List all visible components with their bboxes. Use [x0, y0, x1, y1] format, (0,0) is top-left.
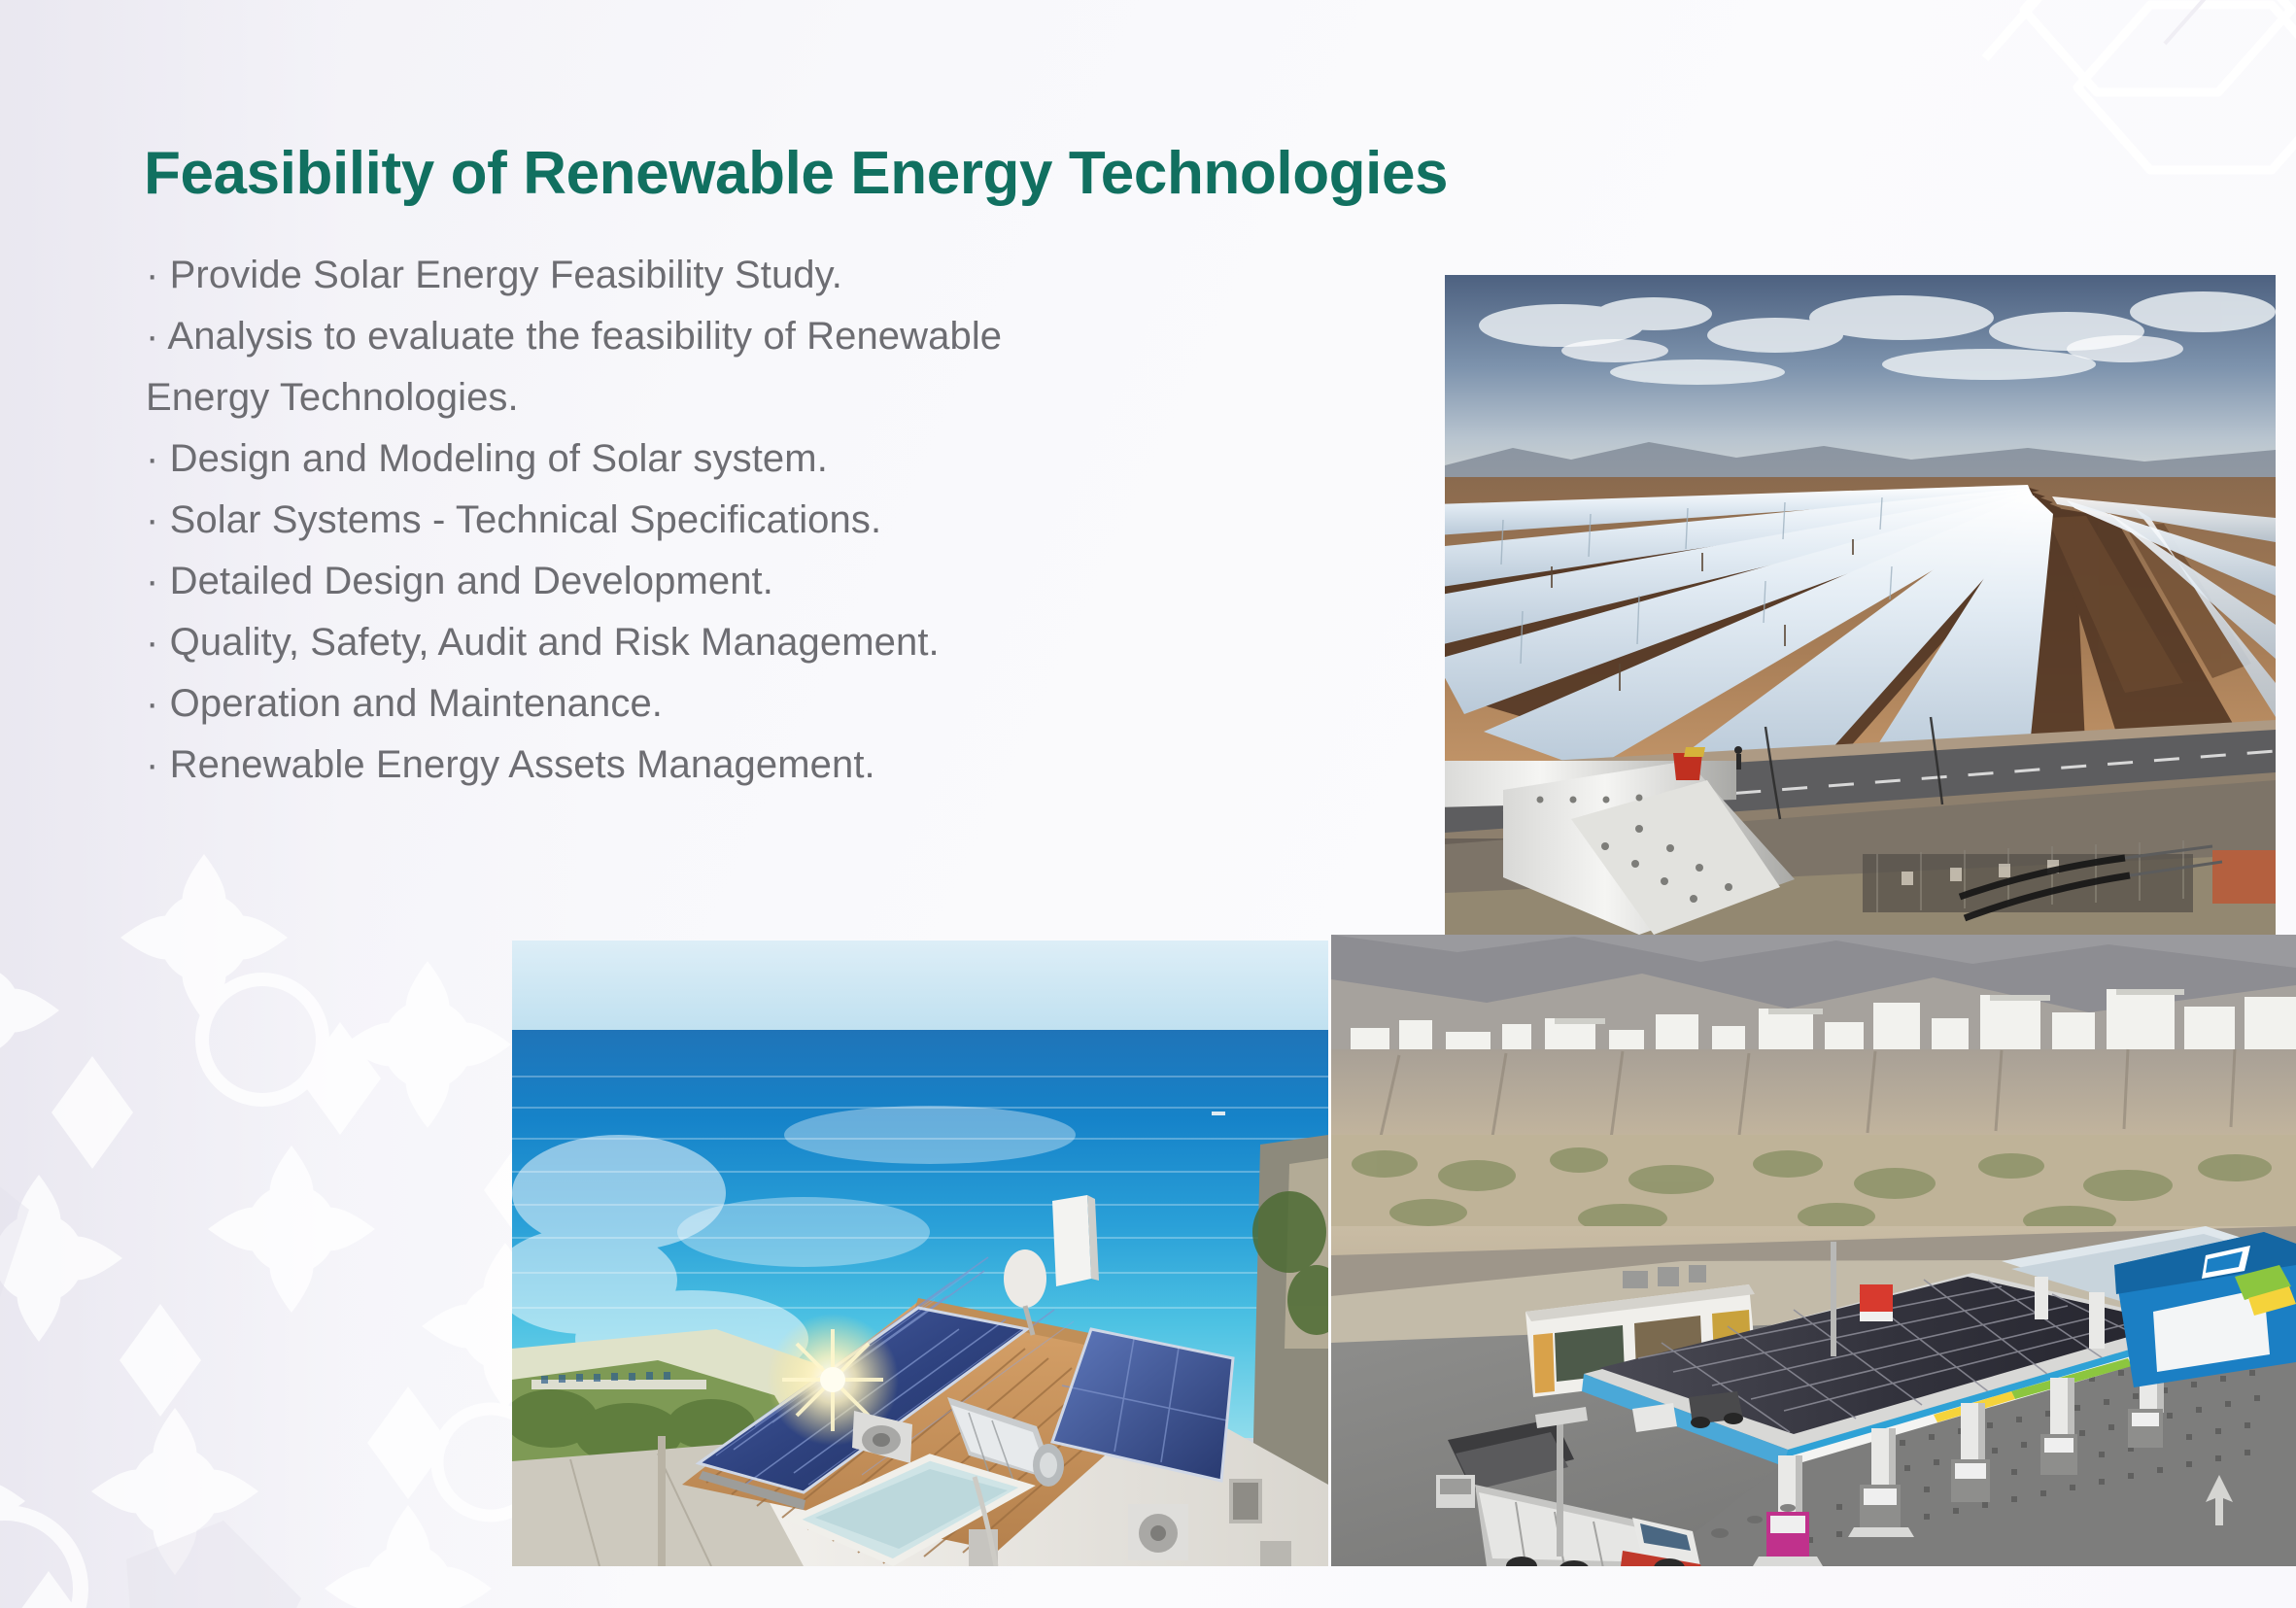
bullet-list: · Provide Solar Energy Feasibility Study…	[146, 245, 1292, 796]
slide-root: Feasibility of Renewable Energy Technolo…	[0, 0, 2296, 1608]
list-item: · Design and Modeling of Solar system.	[146, 428, 1292, 490]
list-item: · Analysis to evaluate the feasibility o…	[146, 306, 1292, 428]
image-csp-parabolic-trough-solar-field	[1445, 275, 2276, 935]
page-title: Feasibility of Renewable Energy Technolo…	[144, 139, 1448, 208]
list-item: · Detailed Design and Development.	[146, 551, 1292, 612]
image-solar-canopy-petrol-station	[1331, 935, 2296, 1566]
list-item: · Quality, Safety, Audit and Risk Manage…	[146, 612, 1292, 673]
list-item: · Solar Systems - Technical Specificatio…	[146, 490, 1292, 551]
list-item: · Provide Solar Energy Feasibility Study…	[146, 245, 1292, 306]
list-item: · Operation and Maintenance.	[146, 673, 1292, 735]
image-rooftop-solar-seaside-house	[512, 941, 1328, 1566]
list-item: · Renewable Energy Assets Management.	[146, 735, 1292, 796]
